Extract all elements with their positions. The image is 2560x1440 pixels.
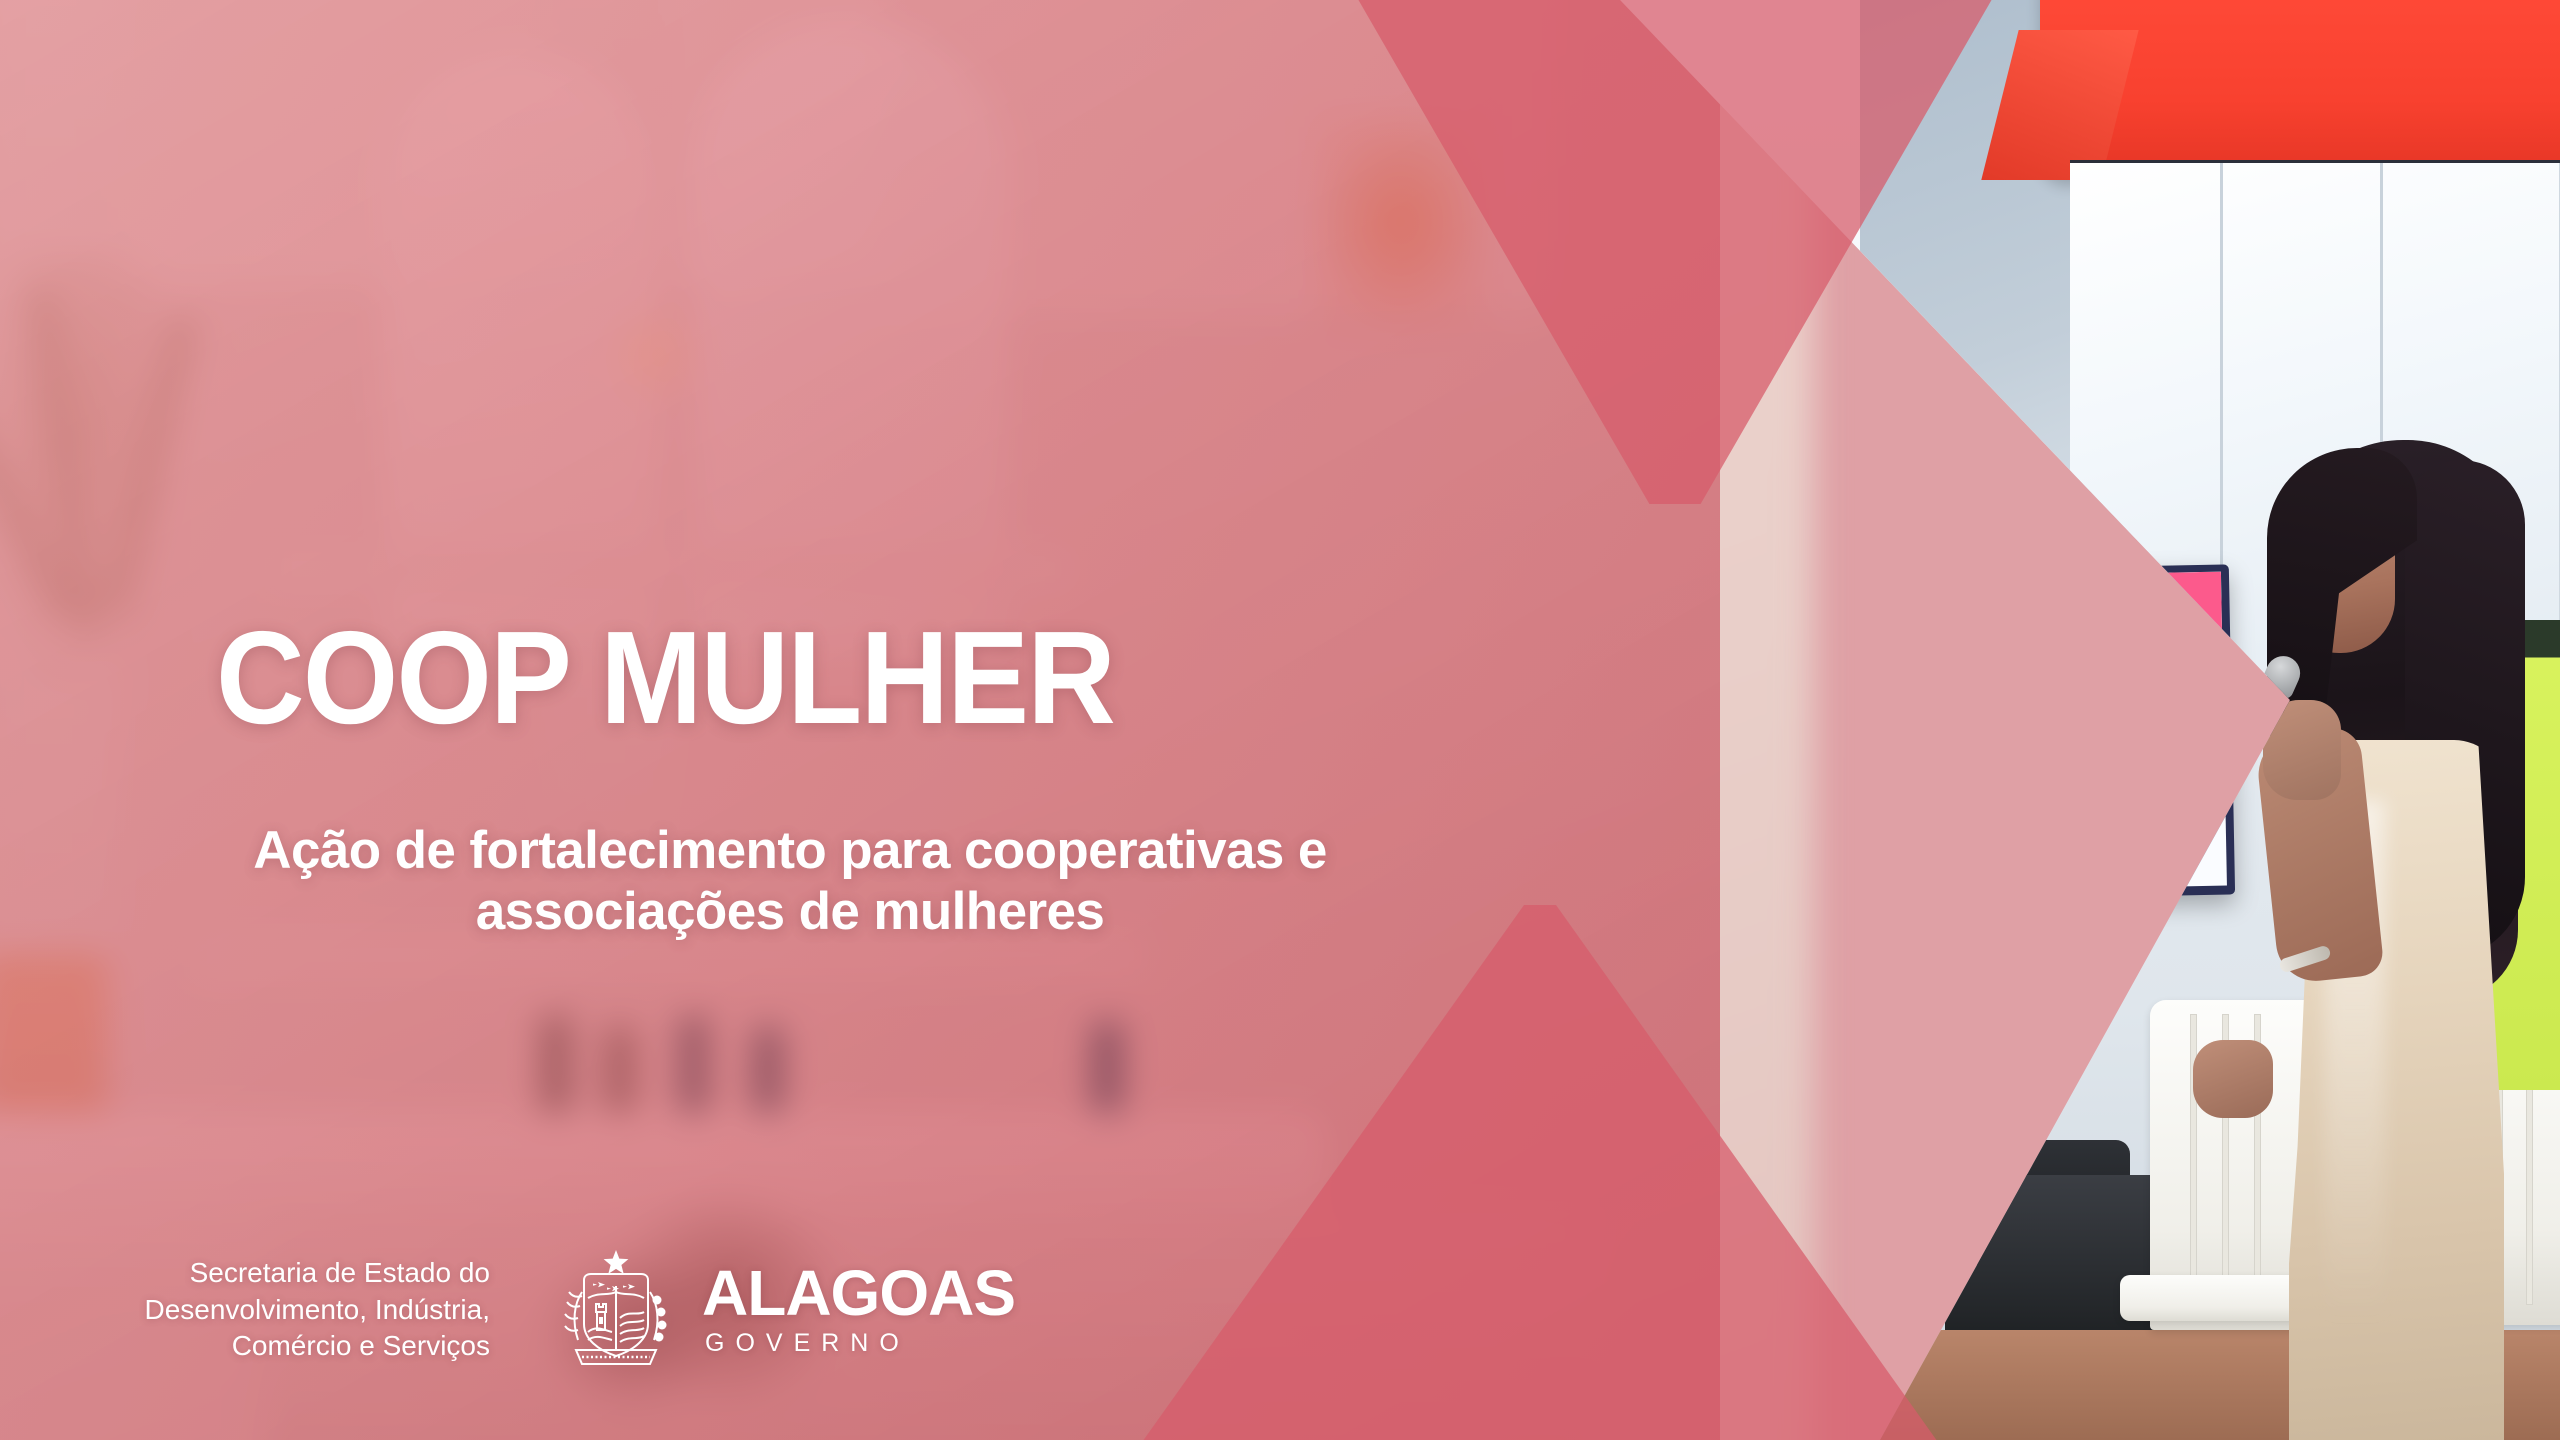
slide-canvas: QUAIS OS BENEFICIÁRIOS?	[0, 0, 2560, 1440]
page-title: COOP MULHER	[216, 612, 1114, 744]
government-logo: ALAGOAS GOVERNO	[552, 1246, 1015, 1374]
department-name: Secretaria de Estado do Desenvolvimento,…	[130, 1255, 490, 1366]
government-name: ALAGOAS	[702, 1262, 1015, 1325]
presenter-woman	[2255, 440, 2545, 1440]
alagoas-coat-of-arms-icon	[552, 1246, 680, 1374]
presenter-second-hand	[2193, 1040, 2273, 1118]
footer: Secretaria de Estado do Desenvolvimento,…	[130, 1245, 1130, 1375]
government-wordmark: ALAGOAS GOVERNO	[702, 1262, 1015, 1359]
government-subtitle: GOVERNO	[702, 1329, 1015, 1358]
page-subtitle: Ação de fortalecimento para cooperativas…	[170, 820, 1410, 943]
